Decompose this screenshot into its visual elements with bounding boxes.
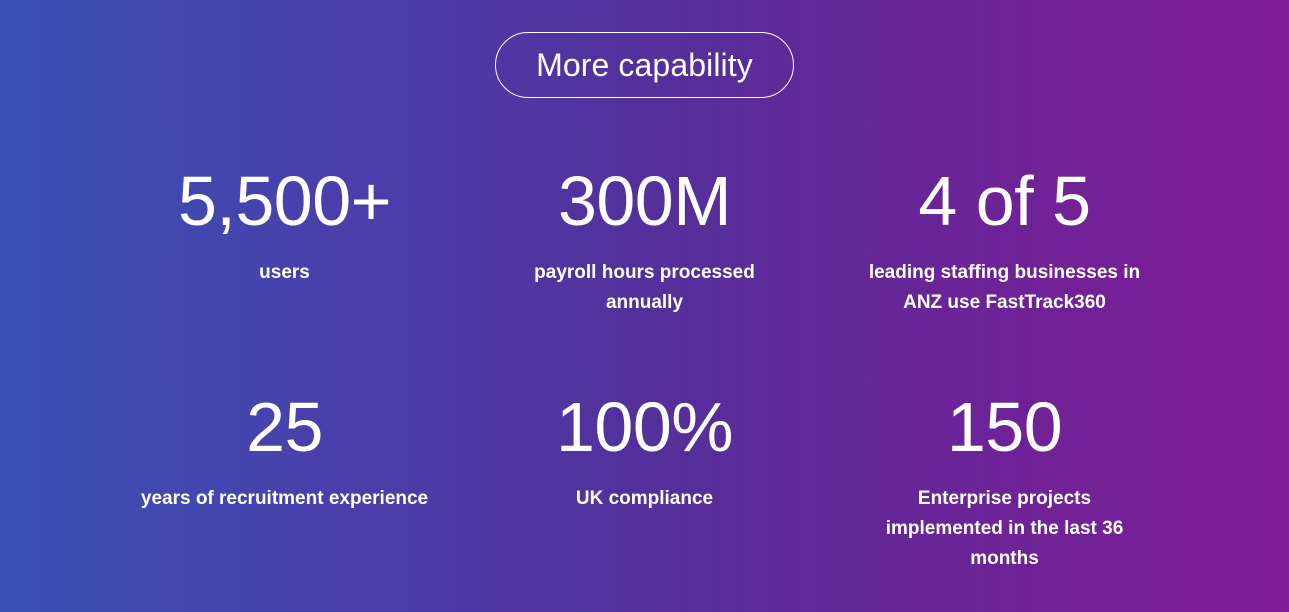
stat-label: UK compliance (576, 484, 713, 514)
stat-label: Enterprise projects implemented in the l… (860, 484, 1150, 574)
stat-label: leading staffing businesses in ANZ use F… (860, 258, 1150, 318)
stat-item: 4 of 5 leading staffing businesses in AN… (825, 166, 1185, 318)
stat-label: users (259, 258, 310, 288)
stat-value: 25 (246, 392, 323, 462)
stat-item: 300M payroll hours processed annually (465, 166, 825, 318)
stat-item: 100% UK compliance (465, 392, 825, 574)
stat-item: 5,500+ users (105, 166, 465, 318)
stat-value: 100% (556, 392, 733, 462)
stat-value: 150 (947, 392, 1062, 462)
stat-value: 4 of 5 (918, 166, 1090, 236)
stat-value: 300M (558, 166, 731, 236)
stat-value: 5,500+ (178, 166, 391, 236)
stats-section: More capability 5,500+ users 300M payrol… (0, 0, 1289, 612)
section-badge: More capability (495, 32, 794, 98)
stats-grid: 5,500+ users 300M payroll hours processe… (105, 166, 1185, 574)
stat-label: years of recruitment experience (141, 484, 428, 514)
stat-label: payroll hours processed annually (500, 258, 790, 318)
stat-item: 25 years of recruitment experience (105, 392, 465, 574)
stat-item: 150 Enterprise projects implemented in t… (825, 392, 1185, 574)
badge-container: More capability (0, 32, 1289, 98)
